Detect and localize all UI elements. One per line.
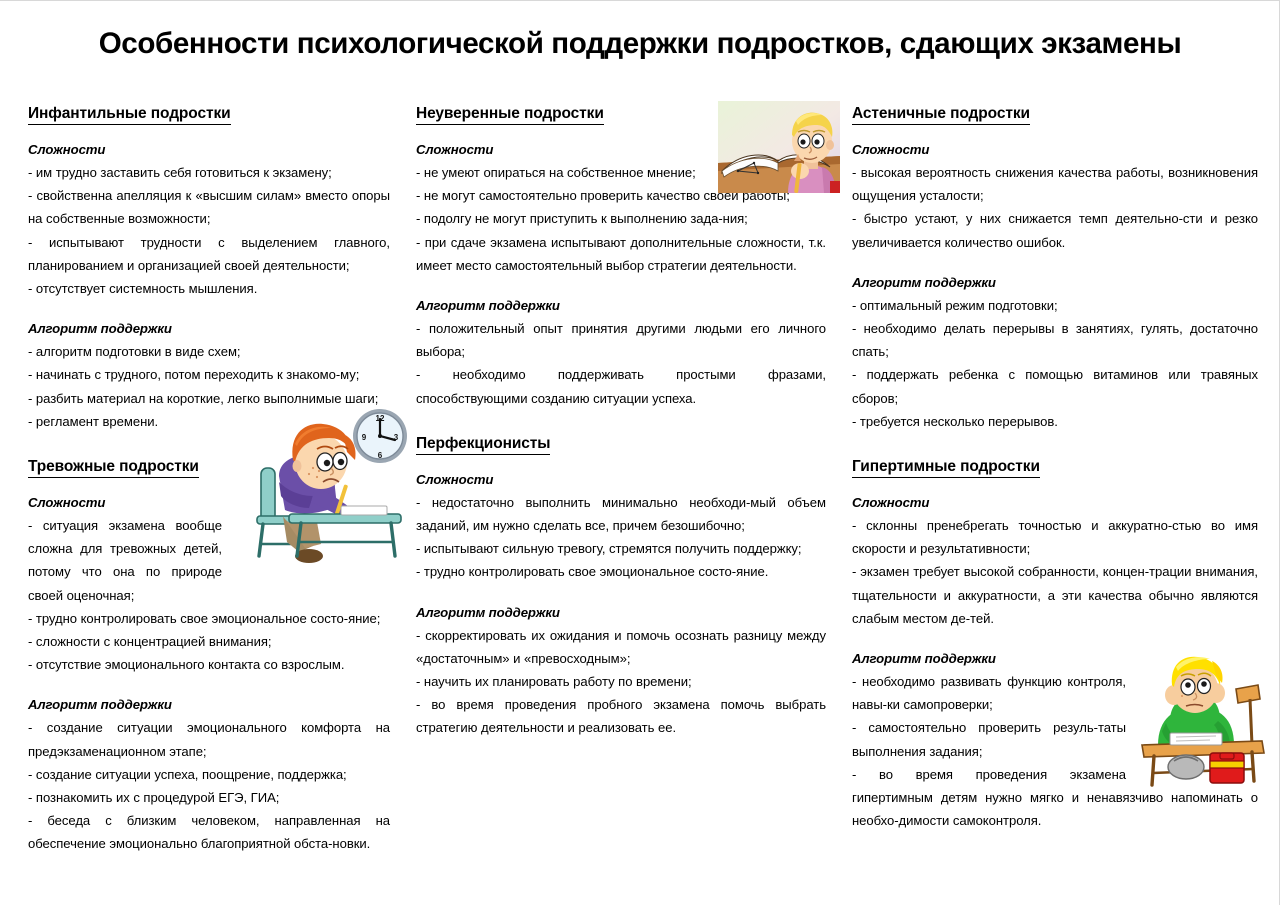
section-infantile: Инфантильные подростки Сложности - им тр… <box>28 104 390 433</box>
text-line: - экзамен требует высокой собранности, к… <box>852 560 1258 630</box>
subheading-difficulties-asthenic: Сложности <box>852 140 1258 159</box>
text-line: - недостаточно выполнить минимально необ… <box>416 491 826 537</box>
text-line: - испытывают сильную тревогу, стремятся … <box>416 537 826 560</box>
text-line: - сложности с концентрацией внимания; <box>28 630 390 653</box>
text-line: - научить их планировать работу по време… <box>416 670 826 693</box>
content-columns: Инфантильные подростки Сложности - им тр… <box>0 104 1280 856</box>
text-line: - создание ситуации успеха, поощрение, п… <box>28 763 390 786</box>
svg-text:6: 6 <box>378 451 383 460</box>
text-line: - отсутствие эмоционального контакта со … <box>28 653 390 676</box>
text-algorithm-anxious: - создание ситуации эмоционального комфо… <box>28 716 390 855</box>
text-line: - быстро устают, у них снижается темп де… <box>852 207 1258 253</box>
section-heading-perfectionists: Перфекционисты <box>416 434 550 455</box>
subheading-difficulties-perfectionists: Сложности <box>416 470 826 489</box>
text-difficulties-hyperthymic: - склонны пренебрегать точностью и аккур… <box>852 514 1258 630</box>
rule-segment-blue <box>48 70 507 79</box>
text-line: - трудно контролировать свое эмоциональн… <box>416 560 826 583</box>
text-line: - положительный опыт принятия другими лю… <box>416 317 826 363</box>
subheading-algorithm-infantile: Алгоритм поддержки <box>28 319 390 338</box>
text-line: - требуется несколько перерывов. <box>852 410 1258 433</box>
section-heading-infantile: Инфантильные подростки <box>28 104 231 125</box>
wall-clock-icon: 12 3 6 9 <box>353 409 407 463</box>
text-line: - высокая вероятность снижения качества … <box>852 161 1258 207</box>
text-line: - испытывают трудности с выделением глав… <box>28 231 390 277</box>
text-line: - беседа с близким человеком, направленн… <box>28 809 390 855</box>
poster-root: Особенности психологической поддержки по… <box>0 0 1280 905</box>
title-block: Особенности психологической поддержки по… <box>0 1 1280 79</box>
tricolor-rule <box>48 70 1240 79</box>
text-algorithm-asthenic: - оптимальный режим подготовки;- необход… <box>852 294 1258 433</box>
section-heading-asthenic: Астеничные подростки <box>852 104 1030 125</box>
section-heading-anxious: Тревожные подростки <box>28 457 199 478</box>
section-heading-hyperthymic: Гипертимные подростки <box>852 457 1040 478</box>
text-line: - им трудно заставить себя готовиться к … <box>28 161 390 184</box>
section-perfectionists: Перфекционисты Сложности - недостаточно … <box>416 434 826 740</box>
text-line: - поддержать ребенка с помощью витаминов… <box>852 363 1258 409</box>
text-line: - во время проведения пробного экзамена … <box>416 693 826 739</box>
text-line: - скорректировать их ожидания и помочь о… <box>416 624 826 670</box>
text-line: - при сдаче экзамена испытывают дополнит… <box>416 231 826 277</box>
text-line: - начинать с трудного, потом переходить … <box>28 363 390 386</box>
section-heading-insecure: Неуверенные подростки <box>416 104 604 125</box>
text-line: - подолгу не могут приступить к выполнен… <box>416 207 826 230</box>
subheading-algorithm-perfectionists: Алгоритм поддержки <box>416 603 826 622</box>
text-line: - познакомить их с процедурой ЕГЭ, ГИА; <box>28 786 390 809</box>
text-line: - трудно контролировать свое эмоциональн… <box>28 607 390 630</box>
bored-boy-at-school-desk-illustration <box>1140 649 1268 791</box>
rule-segment-yellow <box>507 70 942 79</box>
text-line: - необходимо поддерживать простыми фраза… <box>416 363 826 409</box>
subheading-algorithm-anxious: Алгоритм поддержки <box>28 695 390 714</box>
rule-segment-magenta <box>942 70 1240 79</box>
text-line: - необходимо делать перерывы в занятиях,… <box>852 317 1258 363</box>
subheading-difficulties-hyperthymic: Сложности <box>852 493 1258 512</box>
section-asthenic: Астеничные подростки Сложности - высокая… <box>852 104 1258 433</box>
text-difficulties-asthenic: - высокая вероятность снижения качества … <box>852 161 1258 254</box>
text-line: - свойственна апелляция к «высшим силам»… <box>28 184 390 230</box>
text-line: - отсутствует системность мышления. <box>28 277 390 300</box>
subheading-algorithm-insecure: Алгоритм поддержки <box>416 296 826 315</box>
text-algorithm-perfectionists: - скорректировать их ожидания и помочь о… <box>416 624 826 740</box>
text-line: - создание ситуации эмоционального комфо… <box>28 716 390 762</box>
text-difficulties-infantile: - им трудно заставить себя готовиться к … <box>28 161 390 300</box>
text-difficulties-perfectionists: - недостаточно выполнить минимально необ… <box>416 491 826 584</box>
thinking-boy-with-book-illustration <box>718 101 840 193</box>
text-line: - склонны пренебрегать точностью и аккур… <box>852 514 1258 560</box>
subheading-algorithm-asthenic: Алгоритм поддержки <box>852 273 1258 292</box>
text-algorithm-insecure: - положительный опыт принятия другими лю… <box>416 317 826 410</box>
page-title: Особенности психологической поддержки по… <box>25 27 1254 61</box>
text-line: - алгоритм подготовки в виде схем; <box>28 340 390 363</box>
anxious-boy-at-desk-with-clock-illustration: 12 3 6 9 <box>243 404 423 574</box>
subheading-difficulties-infantile: Сложности <box>28 140 390 159</box>
svg-text:9: 9 <box>362 433 367 442</box>
text-line: - оптимальный режим подготовки; <box>852 294 1258 317</box>
column-2: Неуверенные подростки Сложности - не уме… <box>408 104 842 856</box>
